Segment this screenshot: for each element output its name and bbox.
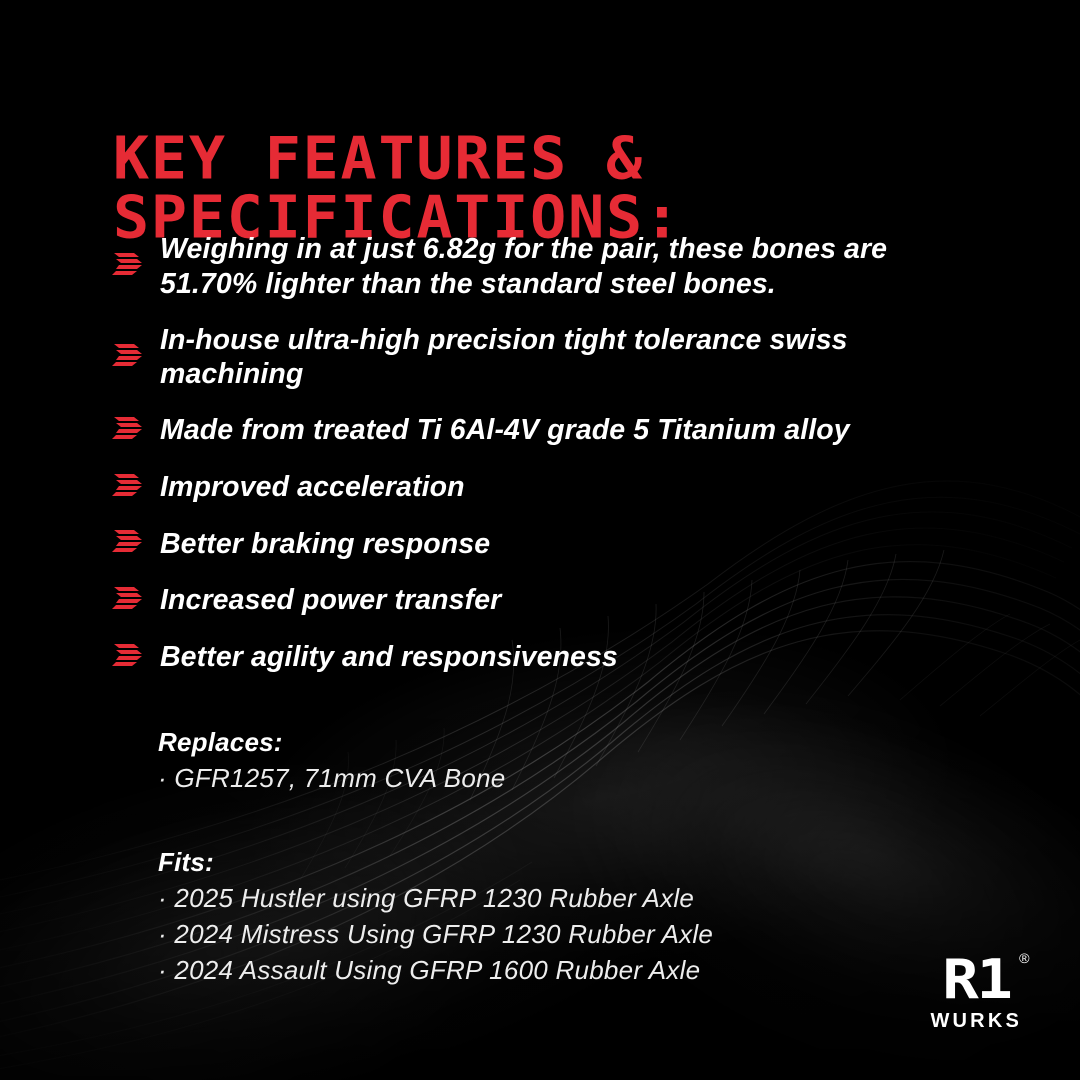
list-item: Better agility and responsiveness (112, 639, 972, 675)
registered-trademark-icon: ® (1018, 951, 1028, 965)
replaces-section: Replaces: · GFR1257, 71mm CVA Bone (158, 726, 506, 796)
brand-logo: R1 ® WURKS (930, 955, 1022, 1032)
red-striped-chevron-icon (112, 415, 146, 445)
fits-section: Fits: · 2025 Hustler using GFRP 1230 Rub… (158, 846, 713, 988)
list-item-label: Weighing in at just 6.82g for the pair, … (160, 231, 972, 302)
list-item: Increased power transfer (112, 582, 972, 618)
fits-item: · 2024 Assault Using GFRP 1600 Rubber Ax… (158, 954, 713, 988)
fits-heading: Fits: (158, 846, 713, 879)
fits-item: · 2025 Hustler using GFRP 1230 Rubber Ax… (158, 882, 713, 916)
red-striped-chevron-icon (112, 642, 146, 672)
red-striped-chevron-icon (112, 528, 146, 558)
page-title: KEY FEATURES & SPECIFICATIONS: (113, 129, 1025, 247)
list-item-label: Better braking response (160, 526, 490, 562)
replaces-heading: Replaces: (158, 726, 506, 759)
list-item-label: Better agility and responsiveness (160, 639, 618, 675)
list-item-label: In-house ultra-high precision tight tole… (160, 322, 972, 393)
red-striped-chevron-icon (112, 585, 146, 615)
list-item: Improved acceleration (112, 469, 972, 505)
red-striped-chevron-icon (112, 472, 146, 502)
feature-list: Weighing in at just 6.82g for the pair, … (112, 231, 972, 696)
list-item: Made from treated Ti 6Al-4V grade 5 Tita… (112, 412, 972, 448)
logo-wordmark: WURKS (930, 1010, 1022, 1032)
red-striped-chevron-icon (112, 342, 146, 372)
poster-canvas: KEY FEATURES & SPECIFICATIONS: Weighing … (0, 0, 1080, 1080)
replaces-item: · GFR1257, 71mm CVA Bone (158, 762, 506, 796)
list-item: Better braking response (112, 526, 972, 562)
list-item: In-house ultra-high precision tight tole… (112, 322, 972, 393)
list-item-label: Made from treated Ti 6Al-4V grade 5 Tita… (160, 412, 850, 448)
red-striped-chevron-icon (112, 251, 146, 281)
list-item: Weighing in at just 6.82g for the pair, … (112, 231, 972, 302)
logo-mark-text: R1 (942, 948, 1010, 1011)
fits-item: · 2024 Mistress Using GFRP 1230 Rubber A… (158, 918, 713, 952)
list-item-label: Improved acceleration (160, 469, 465, 505)
list-item-label: Increased power transfer (160, 582, 501, 618)
logo-mark: R1 ® (942, 955, 1010, 1005)
